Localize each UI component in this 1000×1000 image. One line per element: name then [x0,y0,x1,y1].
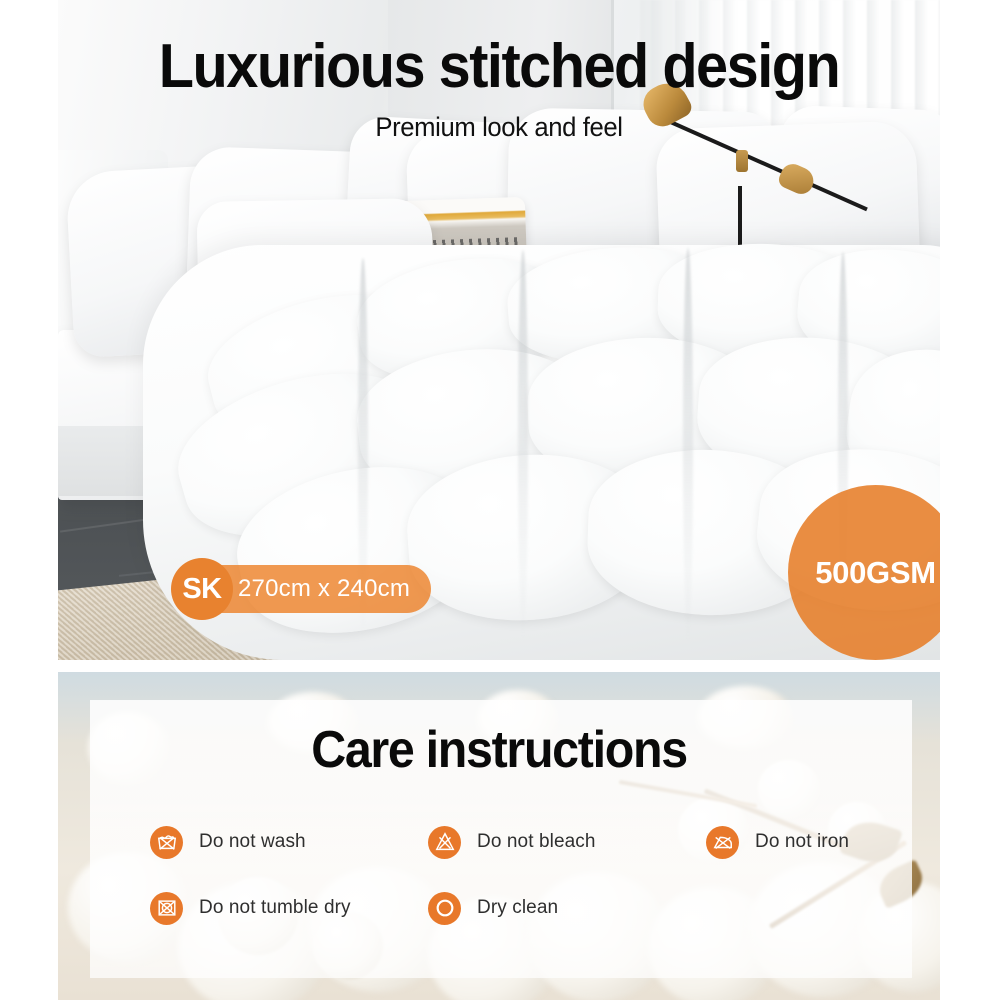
care-item-dry-clean: Dry clean [428,892,706,925]
care-item-label: Do not wash [199,831,306,853]
quilt-seam [518,250,528,640]
care-row: Do not tumble dry Dry clean [150,878,850,938]
size-dimensions: 270cm x 240cm [238,565,410,613]
care-item-do-not-wash: Do not wash [150,826,428,859]
do-not-tumble-dry-icon [150,892,183,925]
size-code: SK [182,573,221,606]
care-item-label: Dry clean [477,897,558,919]
do-not-iron-icon [706,826,739,859]
do-not-wash-icon [150,826,183,859]
page-title: Luxurious stitched design [89,36,909,98]
quilt-seam [683,248,693,643]
lamp-joint [736,150,748,172]
care-item-do-not-iron: Do not iron [706,826,849,859]
product-marketing-image: Luxurious stitched design Premium look a… [0,0,1000,1000]
care-item-do-not-bleach: Do not bleach [428,826,706,859]
care-item-label: Do not tumble dry [199,897,351,919]
care-instructions-section: Care instructions Do not wash [58,672,940,1000]
care-item-do-not-tumble-dry: Do not tumble dry [150,892,428,925]
gsm-value: 500GSM [815,555,936,591]
care-row: Do not wash Do not bleach [150,812,850,872]
page-subtitle: Premium look and feel [80,112,918,143]
dry-clean-icon [428,892,461,925]
care-title: Care instructions [89,720,909,780]
hero-bedroom-photo: Luxurious stitched design Premium look a… [58,0,940,660]
care-item-label: Do not iron [755,831,849,853]
care-item-label: Do not bleach [477,831,596,853]
do-not-bleach-icon [428,826,461,859]
care-items-grid: Do not wash Do not bleach [150,812,850,938]
size-code-circle: SK [171,558,233,620]
